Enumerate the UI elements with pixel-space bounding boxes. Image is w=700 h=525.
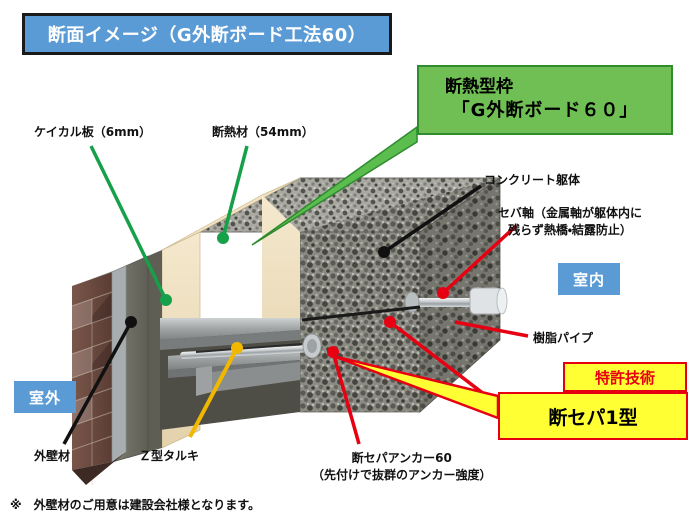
badge-indoor-label: 室内 [573, 269, 605, 290]
diagram-title-text: 断面イメージ（G外断ボード工法60） [48, 21, 366, 47]
concrete-main-face [300, 232, 420, 412]
diagram-title-banner: 断面イメージ（G外断ボード工法60） [22, 13, 392, 55]
dansepa-type1-label: 断セパ1型 [548, 403, 637, 430]
badge-outdoor-label: 室外 [29, 387, 61, 408]
label-seba-shaft-line2: 残らず熱橋・結露防止） [498, 222, 642, 239]
label-dansepa-anchor: 断セパアンカー60 （先付けで抜群のアンカー強度） [312, 450, 492, 485]
label-dansepa-anchor-line2: （先付けで抜群のアンカー強度） [312, 467, 492, 484]
green-callout-line1: 断熱型枠 [445, 76, 513, 99]
label-dansepa-anchor-line1: 断セパアンカー60 [312, 450, 492, 467]
footnote-text: ※ 外壁材のご用意は建設会社様となります。 [10, 497, 260, 514]
green-callout-line2: 「G外断ボード６０」 [452, 99, 639, 123]
diagram-canvas: 断面イメージ（G外断ボード工法60） 断熱型枠 「G外断ボード６０」 ケイカル板… [0, 0, 700, 525]
label-concrete-body: コンクリート躯体 [484, 172, 580, 189]
z-furring-assembly [160, 318, 300, 430]
label-seba-shaft: セバ軸（金属軸が躯体内に 残らず熱橋・結露防止） [498, 205, 642, 240]
label-keikaru-board: ケイカル板（6mm） [34, 124, 151, 141]
exterior-brick-wall [72, 266, 126, 485]
patent-technology-badge: 特許技術 [563, 362, 687, 392]
green-callout-box: 断熱型枠 「G外断ボード６０」 [417, 65, 673, 135]
dansepa-type1-callout: 断セパ1型 [498, 392, 688, 440]
label-insulation: 断熱材（54mm） [212, 124, 314, 141]
patent-technology-label: 特許技術 [595, 367, 655, 388]
label-z-taruki: Ｚ型タルキ [139, 448, 199, 465]
label-exterior-wall: 外壁材 [34, 448, 70, 465]
label-seba-shaft-line1: セバ軸（金属軸が躯体内に [498, 205, 642, 222]
badge-outdoor: 室外 [14, 381, 76, 413]
label-resin-pipe: 樹脂パイプ [533, 330, 593, 347]
badge-indoor: 室内 [558, 263, 620, 295]
